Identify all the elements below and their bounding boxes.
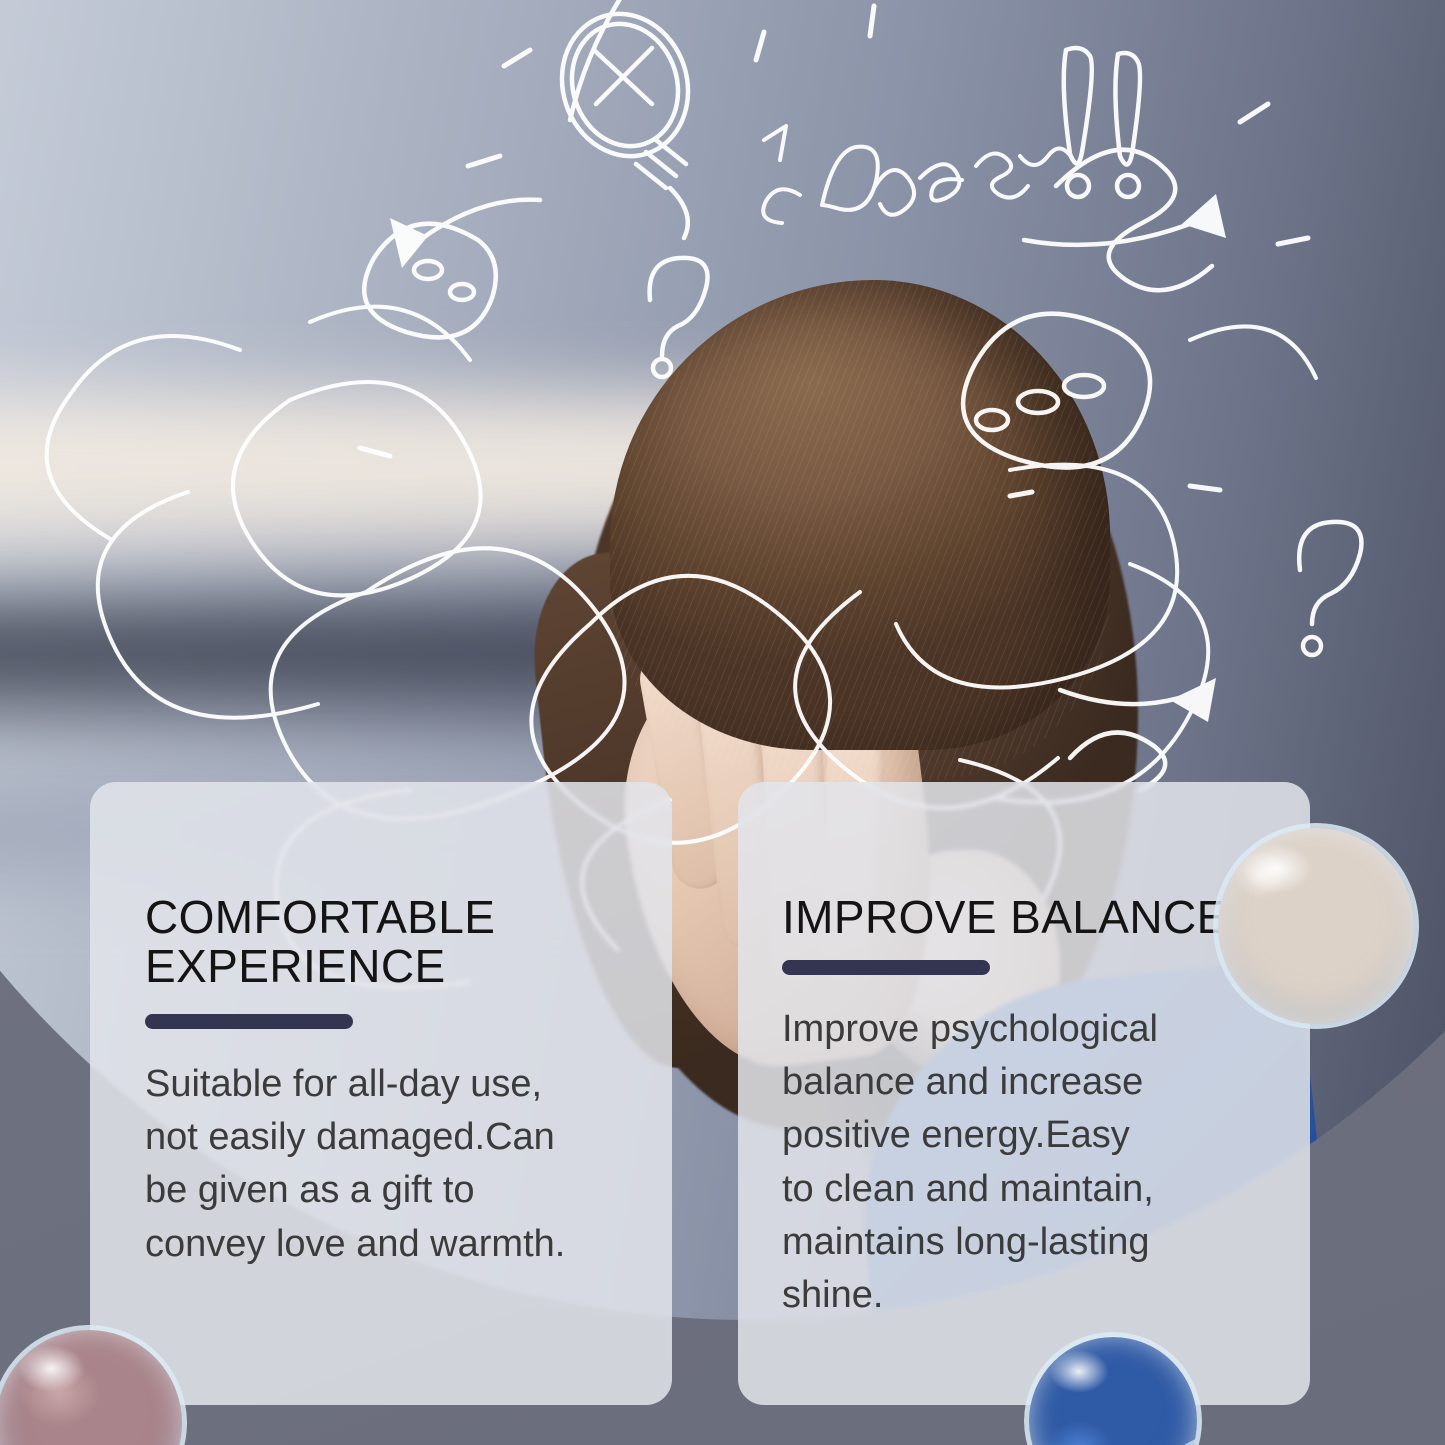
feature-card-title: COMFORTABLE EXPERIENCE xyxy=(145,893,665,991)
hair-strands xyxy=(610,280,1110,780)
specular-shine xyxy=(1242,844,1312,893)
specular-shine xyxy=(1049,1350,1110,1393)
feature-card-body: Suitable for all-day use, not easily dam… xyxy=(145,1058,645,1271)
gemstone-bowl-icon xyxy=(1213,823,1419,1029)
infographic-canvas: COMFORTABLE EXPERIENCE Suitable for all-… xyxy=(0,0,1445,1445)
specular-shine xyxy=(18,1345,85,1392)
glass-rim xyxy=(1213,823,1419,1029)
title-underline-rule xyxy=(782,960,990,975)
feature-card-body: Improve psychological balance and increa… xyxy=(782,1003,1252,1322)
title-underline-rule xyxy=(145,1014,353,1029)
